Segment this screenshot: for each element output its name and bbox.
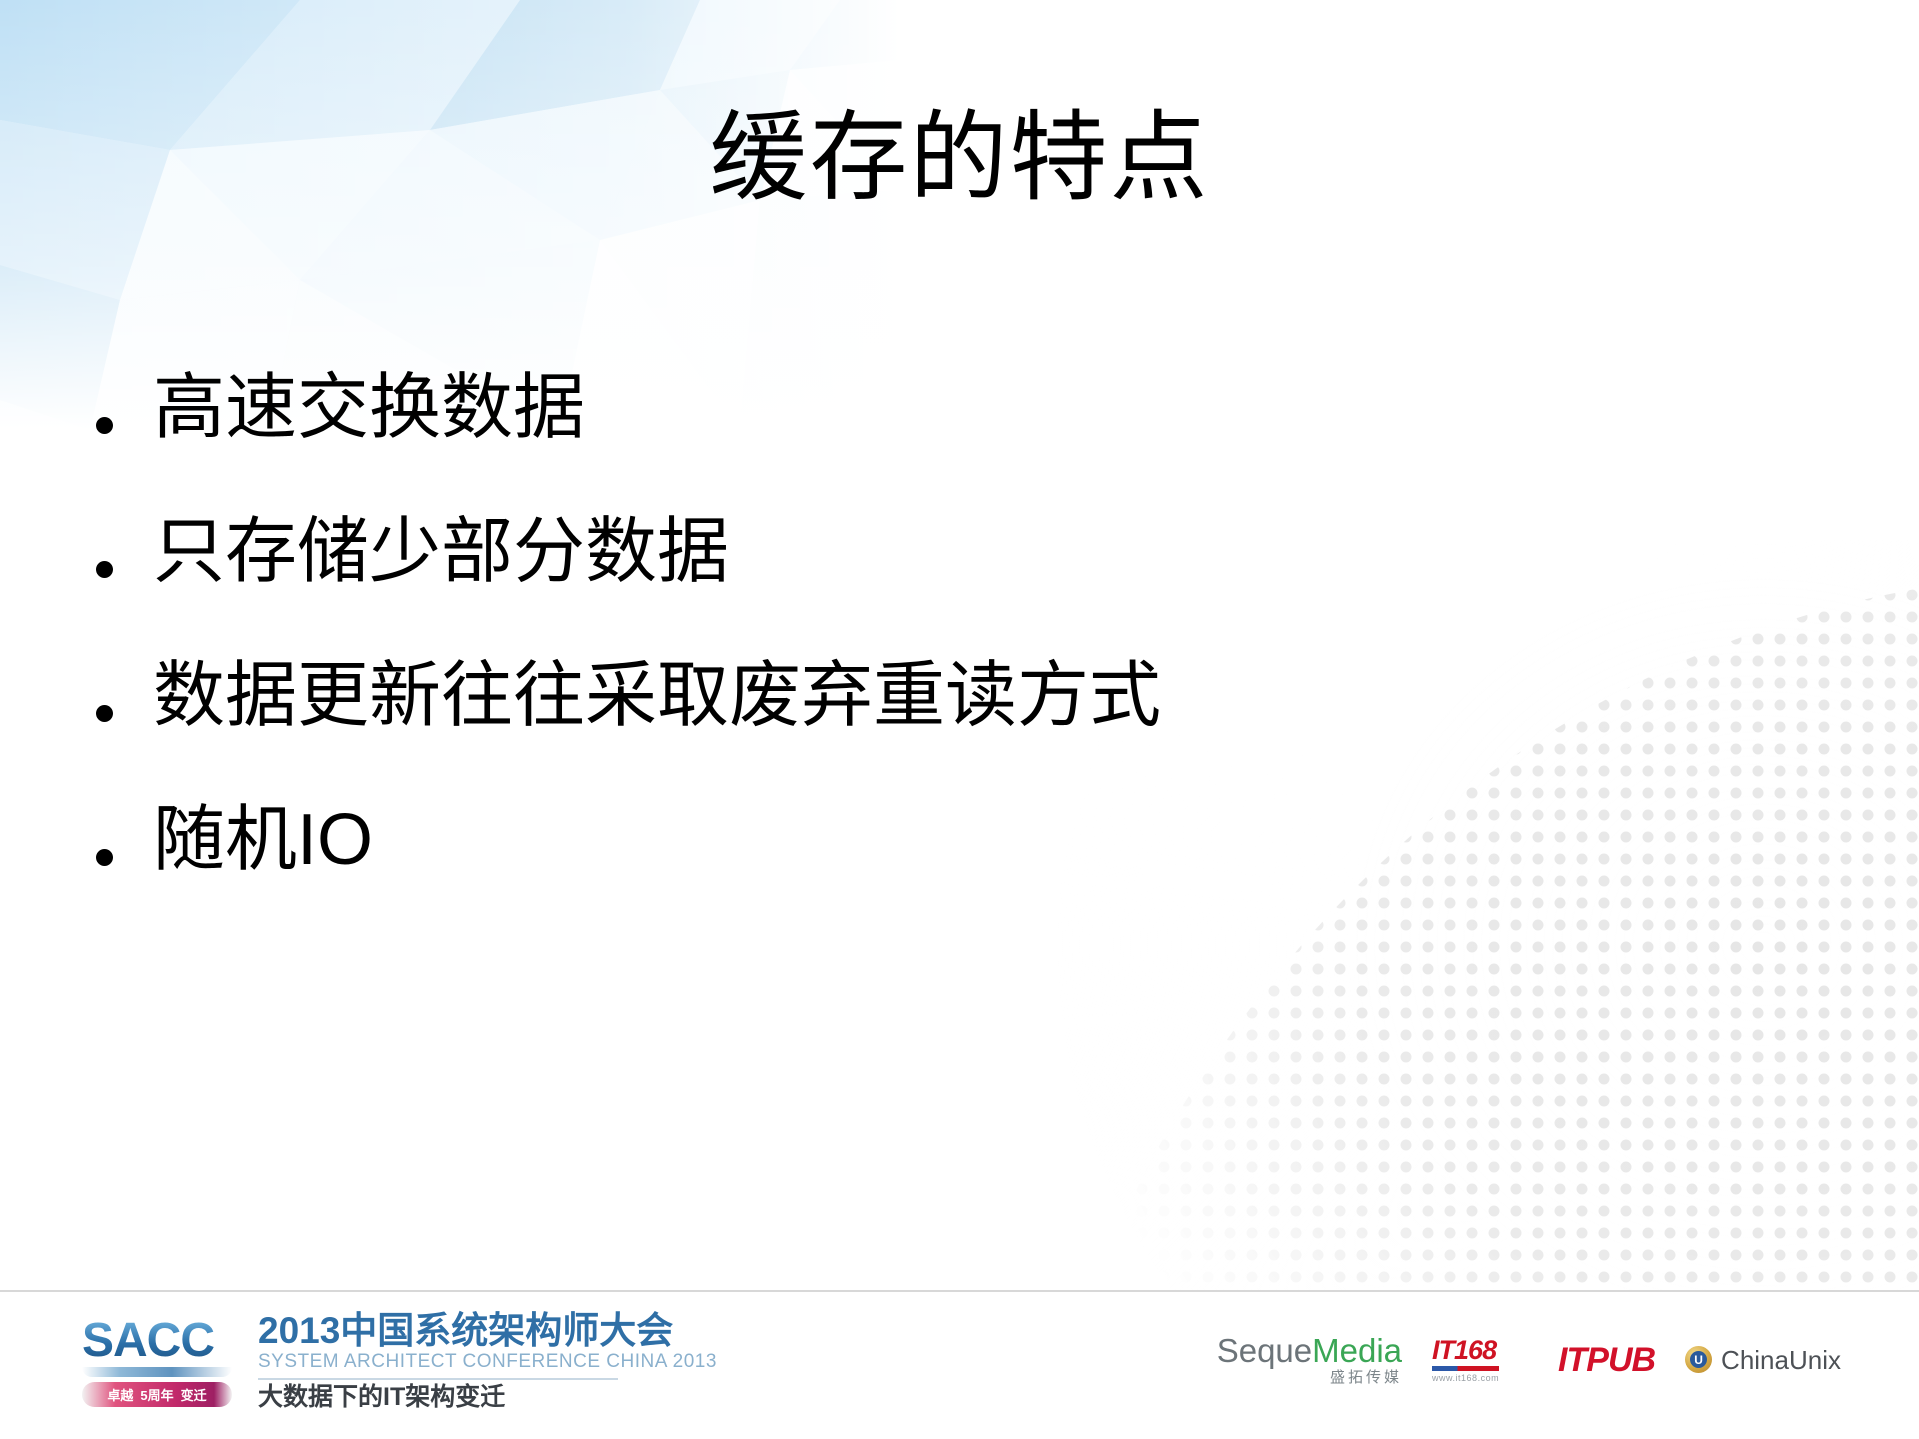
bullet-list: 高速交换数据 只存储少部分数据 数据更新往往采取废弃重读方式 随机IO xyxy=(96,372,1799,876)
list-item-label: 随机IO xyxy=(153,804,373,876)
sacc-swoosh-icon xyxy=(82,1367,232,1377)
slide-title: 缓存的特点 xyxy=(0,108,1919,211)
it168-url-text: www.it168.com xyxy=(1432,1373,1499,1383)
chinaunix-badge-icon: U xyxy=(1685,1346,1712,1373)
bullet-dot-icon xyxy=(96,705,113,722)
sacc-wordmark: SACC xyxy=(82,1317,232,1365)
it168-underline-icon xyxy=(1432,1366,1499,1371)
seque-word-part-a: Seque xyxy=(1217,1332,1312,1369)
sacc-anniversary-ribbon: 卓越 5周年 变迁 xyxy=(82,1382,232,1407)
sponsor-seque-media-logo: SequeMedia 盛拓传媒 xyxy=(1217,1334,1402,1385)
list-item-label: 数据更新往往采取废弃重读方式 xyxy=(153,660,1161,732)
list-item-label: 只存储少部分数据 xyxy=(153,516,729,588)
conference-title-en: SYSTEM ARCHITECT CONFERENCE CHINA 2013 xyxy=(258,1351,717,1374)
sacc-title-block: 2013中国系统架构师大会 SYSTEM ARCHITECT CONFERENC… xyxy=(254,1312,717,1411)
slide-footer: SACC 卓越 5周年 变迁 2013中国系统架构师大会 SYSTEM ARCH… xyxy=(0,1292,1919,1439)
itpub-wordmark: ITPUB xyxy=(1558,1343,1655,1377)
slide-canvas: 缓存的特点 高速交换数据 只存储少部分数据 数据更新往往采取废弃重读方式 随机I… xyxy=(0,0,1919,1439)
sponsor-it168-logo: IT168 www.it168.com xyxy=(1432,1337,1528,1383)
bullet-dot-icon xyxy=(96,417,113,434)
list-item: 高速交换数据 xyxy=(96,372,1799,444)
seque-media-wordmark: SequeMedia xyxy=(1217,1334,1402,1367)
decorative-facet-pattern xyxy=(0,0,900,430)
chinaunix-wordmark: ChinaUnix xyxy=(1721,1347,1841,1373)
list-item: 随机IO xyxy=(96,804,1799,876)
sacc-title-divider xyxy=(258,1378,618,1380)
sponsor-chinaunix-logo: U ChinaUnix xyxy=(1685,1346,1841,1373)
list-item: 只存储少部分数据 xyxy=(96,516,1799,588)
sacc-logo-icon: SACC 卓越 5周年 变迁 xyxy=(82,1317,232,1407)
sacc-logo-lockup: SACC 卓越 5周年 变迁 2013中国系统架构师大会 SYSTEM ARCH… xyxy=(82,1312,717,1411)
list-item-label: 高速交换数据 xyxy=(153,372,585,444)
it168-wordmark: IT168 xyxy=(1432,1337,1499,1364)
sponsor-logo-group: SequeMedia 盛拓传媒 IT168 www.it168.com ITPU… xyxy=(1217,1334,1841,1385)
seque-media-subtitle: 盛拓传媒 xyxy=(1217,1370,1402,1385)
list-item: 数据更新往往采取废弃重读方式 xyxy=(96,660,1799,732)
conference-title-cn: 2013中国系统架构师大会 xyxy=(258,1312,717,1351)
chinaunix-badge-letter: U xyxy=(1690,1351,1707,1368)
bullet-dot-icon xyxy=(96,561,113,578)
conference-subtitle: 大数据下的IT架构变迁 xyxy=(258,1384,717,1412)
sponsor-itpub-logo: ITPUB xyxy=(1558,1343,1655,1377)
bullet-dot-icon xyxy=(96,849,113,866)
seque-word-part-b: Media xyxy=(1312,1332,1402,1369)
ribbon-text-mid: 5周年 xyxy=(140,1385,173,1404)
ribbon-text-left: 卓越 xyxy=(107,1385,133,1404)
ribbon-text-right: 变迁 xyxy=(181,1385,207,1404)
